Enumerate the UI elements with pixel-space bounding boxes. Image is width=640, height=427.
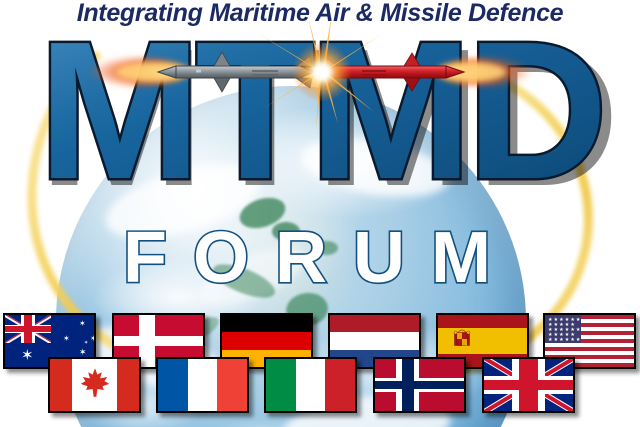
stars-field: ★★★★★★ ★★★★★ ★★★★★★ ★★★★★ ★★★★★★ [545, 315, 581, 343]
band-red-left [50, 359, 72, 411]
tagline: Integrating Maritime Air & Missile Defen… [0, 0, 640, 28]
star-gamma-crucis: ✶ [79, 320, 86, 328]
union-jack-field [484, 359, 573, 411]
landmass [272, 222, 300, 241]
stripe-white [330, 332, 419, 349]
stripe-red [330, 315, 419, 332]
stripe-black [222, 315, 311, 332]
union-jack-canton [5, 315, 51, 343]
commonwealth-star: ✶ [21, 348, 34, 363]
band-red-right [117, 359, 139, 411]
coat-of-arms-icon [451, 326, 473, 357]
star-delta-crucis: ✶ [90, 335, 96, 343]
nordic-cross-vertical [139, 315, 155, 367]
cloud-band [98, 150, 268, 253]
flag-canada [48, 357, 141, 413]
landmass [315, 241, 339, 255]
stripe-red [222, 332, 311, 349]
band-red [217, 359, 247, 411]
cloud-band [297, 131, 454, 206]
nordic-cross-blue-horizontal [375, 381, 464, 388]
maple-leaf-icon [78, 366, 112, 405]
star-epsilon-crucis: ✶ [84, 341, 88, 346]
nordic-cross-horizontal [114, 336, 203, 346]
band-white [188, 359, 218, 411]
nordic-cross-blue-vertical [402, 359, 414, 411]
band-red [325, 359, 355, 411]
star-beta-crucis: ✶ [63, 335, 70, 343]
member-nation-flags: ✶ ✶ ✶ ✶ ✶ ✶ [0, 300, 640, 427]
flag-france [156, 357, 249, 413]
band-blue [158, 359, 188, 411]
band-green [266, 359, 296, 411]
flag-norway [373, 357, 466, 413]
mtmd-forum-logo: Integrating Maritime Air & Missile Defen… [0, 0, 640, 427]
flag-united-kingdom [482, 357, 575, 413]
flag-italy [264, 357, 357, 413]
band-white [296, 359, 326, 411]
star-alpha-crucis: ✶ [79, 348, 87, 357]
